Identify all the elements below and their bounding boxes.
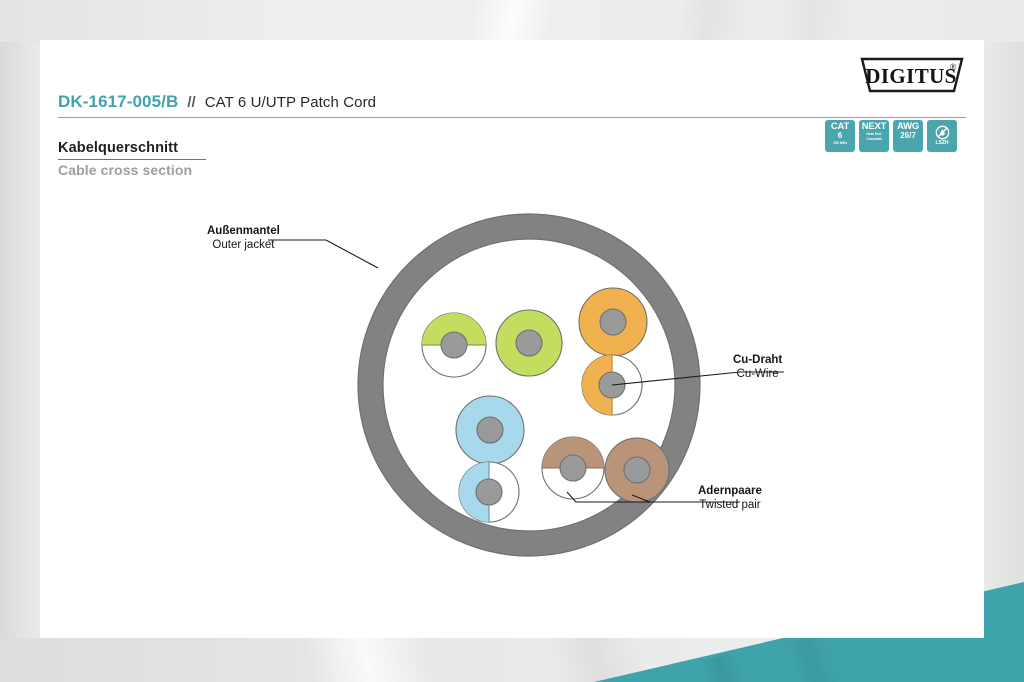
orange-pair [579,288,647,415]
slide-page: DIGITUS ® DK-1617-005/B // CAT 6 U/UTP P… [0,0,1024,682]
callout-outer-jacket-en: Outer jacket [207,238,280,252]
next-badge-main: NEXT [862,122,887,132]
blue-pair [456,396,524,522]
logo-wordmark: DIGITUS [865,64,957,88]
callout-outer-jacket-de: Außenmantel [207,224,280,238]
copper-core [477,417,503,443]
next-badge[interactable]: NEXT Near End Crosstalk [859,120,889,152]
next-badge-line1: Near End [867,132,882,136]
copper-core [516,330,542,356]
background-left-edge [0,0,40,682]
lszh-badge[interactable]: LSZH [927,120,957,152]
header-divider [58,117,966,118]
no-halogen-icon [935,125,950,140]
copper-core [441,332,467,358]
section-title-en: Cable cross section [58,162,192,178]
brown-wire [605,438,669,502]
cat6-badge-sub: 6 [838,132,842,141]
cat6-badge-frequency: 250 MHz [833,141,847,145]
lszh-badge-label: LSZH [935,141,948,147]
copper-core [600,309,626,335]
copper-core [599,372,625,398]
callout-cu-wire-de: Cu-Draht [733,353,782,367]
brown-white-wire [542,437,604,499]
header-title-row: DK-1617-005/B // CAT 6 U/UTP Patch Cord [58,92,966,118]
copper-core [560,455,586,481]
copper-core [476,479,502,505]
blue-wire [456,396,524,464]
callout-cu-wire-en: Cu-Wire [733,367,782,381]
outer-jacket-ring [358,214,700,556]
callout-twisted-pair-de: Adernpaare [698,484,762,498]
certification-badges: CAT 6 250 MHz NEXT Near End Crosstalk AW… [825,120,957,152]
next-badge-line2: Crosstalk [866,137,882,141]
callout-twisted-pair-en: Twisted pair [698,498,762,512]
awg-badge[interactable]: AWG 26/7 [893,120,923,152]
leader-outer-jacket [268,240,378,268]
article-number: DK-1617-005/B [58,92,178,112]
blue-white-wire [459,462,519,522]
product-name: CAT 6 U/UTP Patch Cord [205,94,376,111]
orange-white-wire [582,355,642,415]
orange-wire [579,288,647,356]
content-card: DIGITUS ® DK-1617-005/B // CAT 6 U/UTP P… [40,40,984,638]
green-wire [496,310,562,376]
callout-outer-jacket: Außenmantel Outer jacket [207,224,280,252]
green-pair [422,310,562,377]
awg-badge-sub: 26/7 [900,132,916,141]
copper-core [624,457,650,483]
background-top-band [0,0,1024,42]
digitus-logo: DIGITUS ® [858,56,966,94]
section-title-de: Kabelquerschnitt [58,140,178,156]
green-white-wire [422,313,486,377]
callout-cu-wire: Cu-Draht Cu-Wire [733,353,782,381]
cat6-badge[interactable]: CAT 6 250 MHz [825,120,855,152]
callout-twisted-pair: Adernpaare Twisted pair [698,484,762,512]
section-title-underline [58,159,206,160]
title-separator: // [187,94,195,111]
brown-pair [542,437,669,502]
logo-registered-mark: ® [950,62,957,72]
